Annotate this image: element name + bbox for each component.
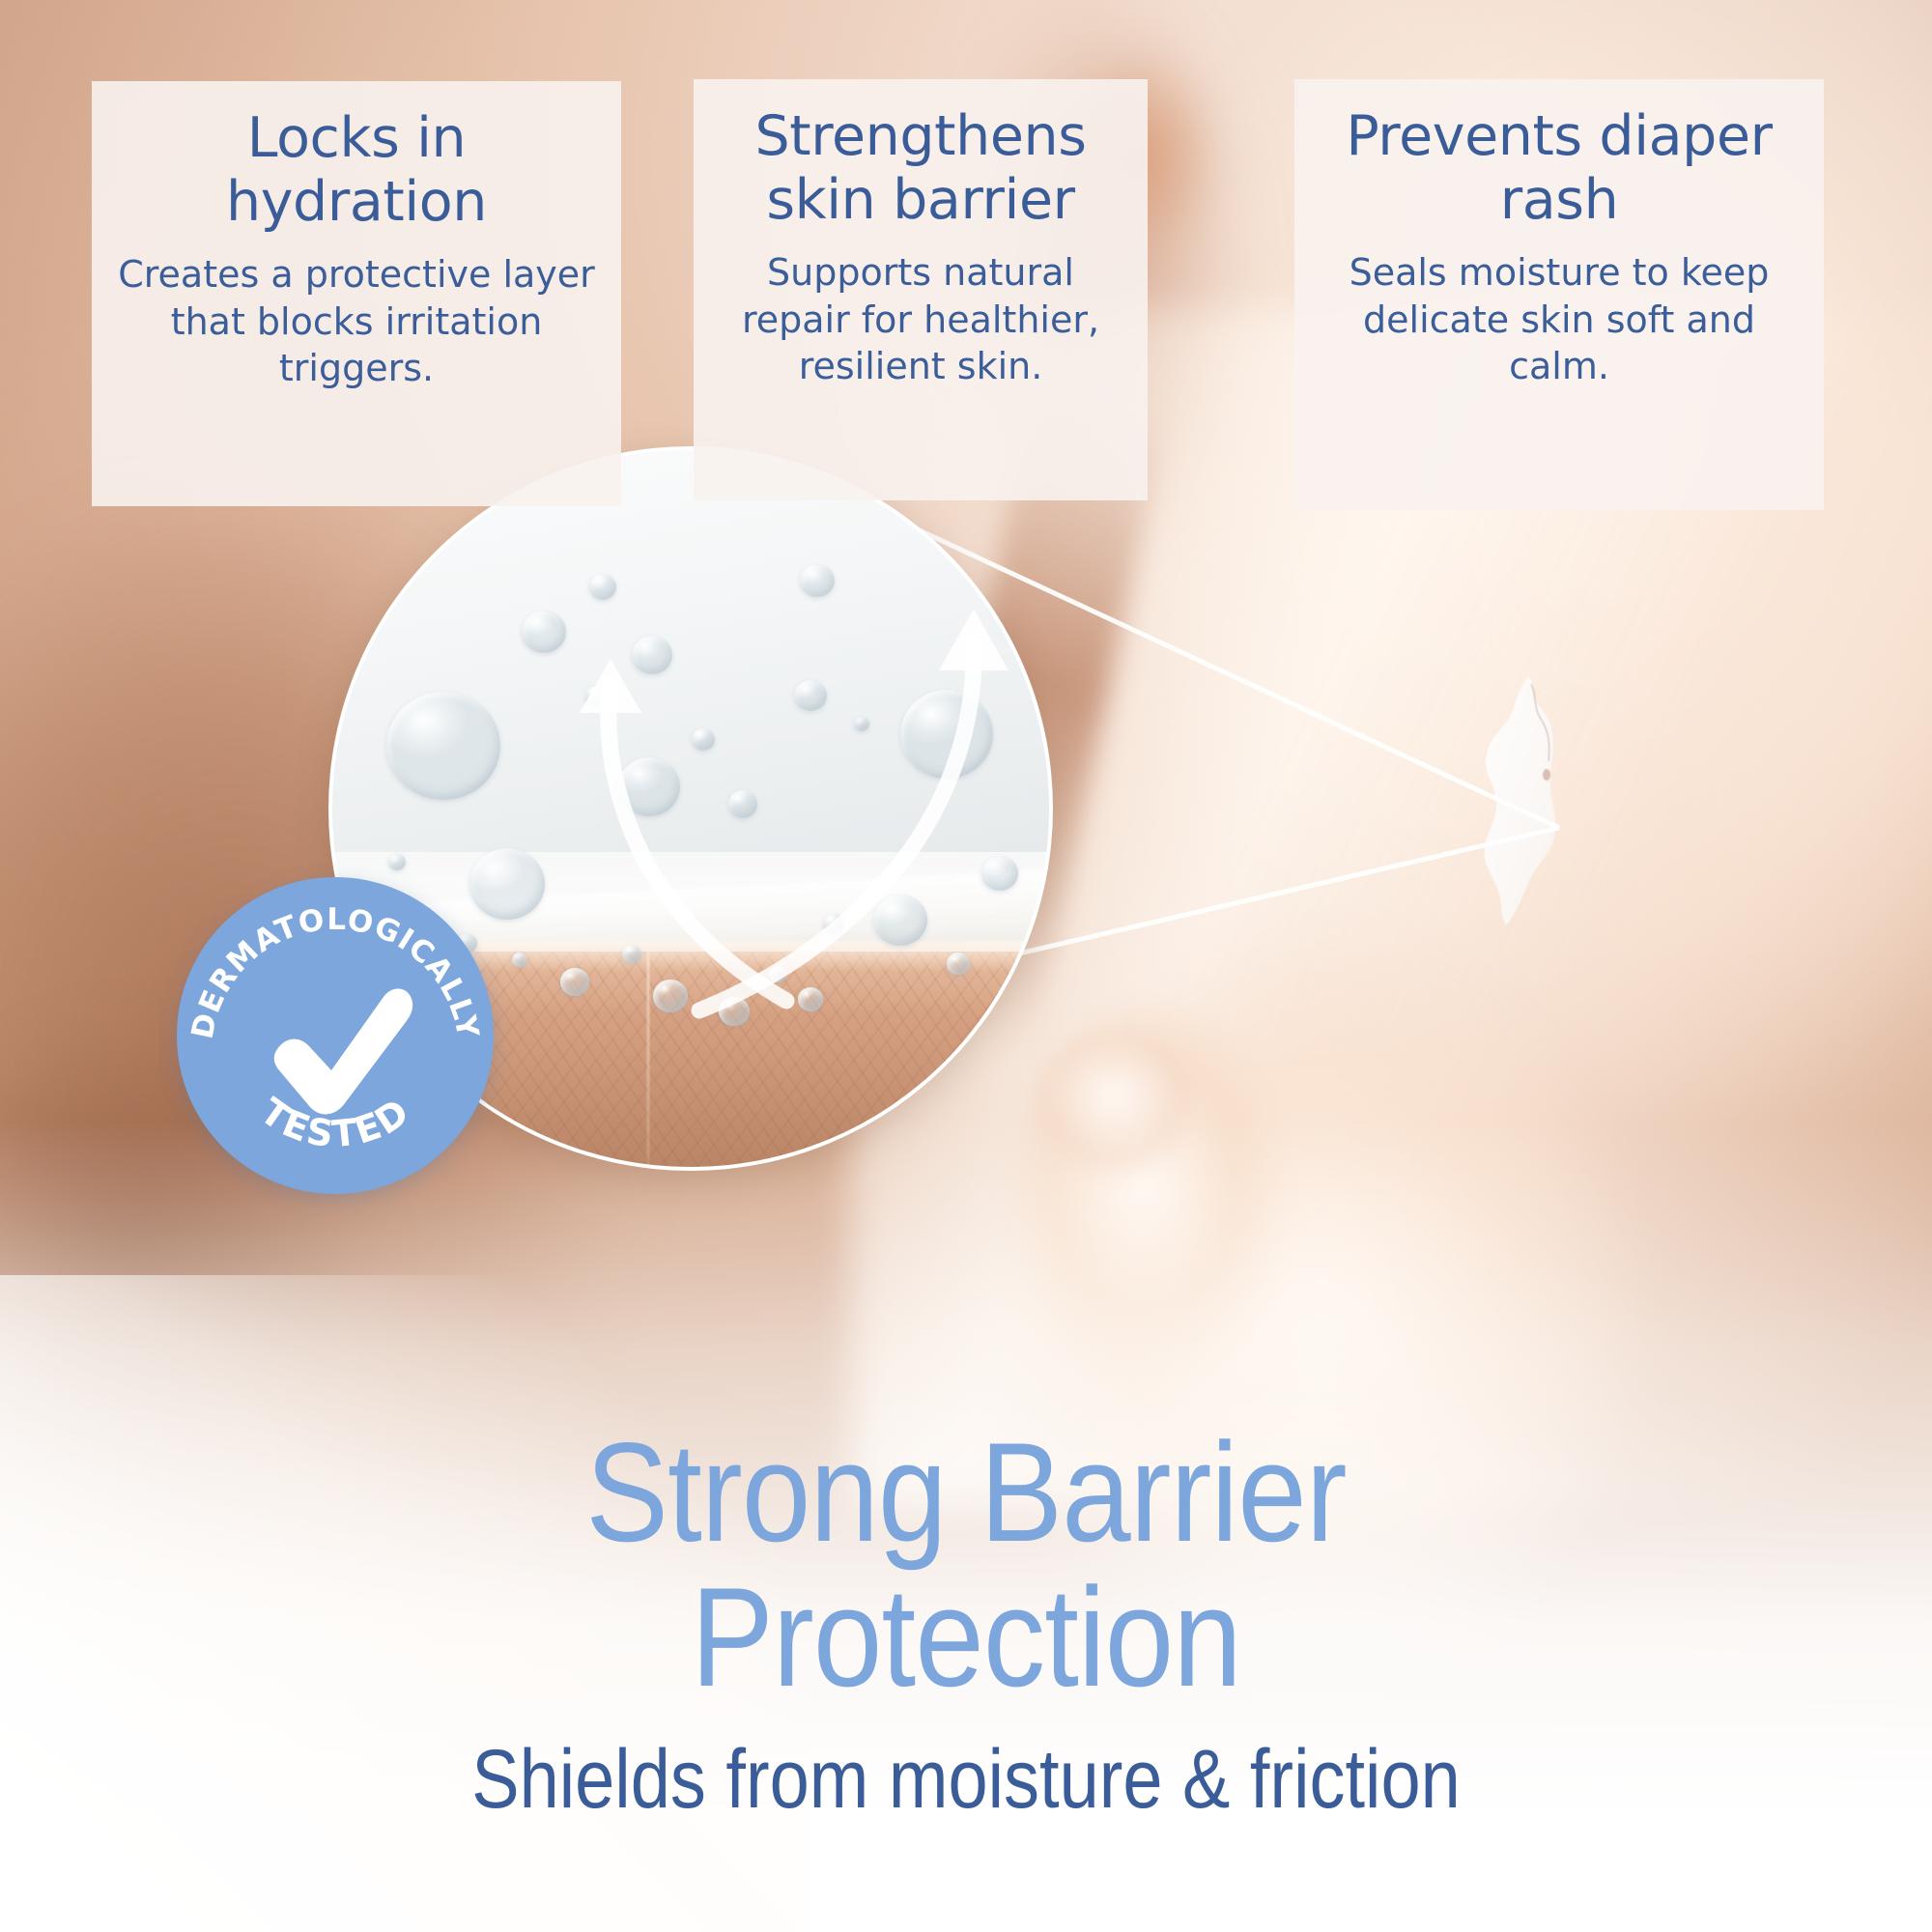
repel-arrow-right <box>641 547 1028 1030</box>
feature-card-body: Seals moisture to keep delicate skin sof… <box>1312 249 1806 390</box>
feature-card-prevents-diaper-rash: Prevents diaper rash Seals moisture to k… <box>1294 79 1824 510</box>
water-droplet <box>388 854 406 870</box>
headline-block: Strong Barrier Protection Shields from m… <box>0 1420 1932 1825</box>
feature-card-strengthens-skin-barrier: Strengthens skin barrier Supports natura… <box>694 79 1148 500</box>
feature-card-locks-in-hydration: Locks in hydration Creates a protective … <box>92 81 621 506</box>
headline-line-1: Strong Barrier <box>116 1420 1816 1565</box>
headline-line-2: Protection <box>116 1565 1816 1710</box>
feature-card-body: Supports natural repair for healthier, r… <box>711 249 1130 390</box>
cream-swatch-on-skin <box>1473 674 1594 930</box>
promo-graphic: DERMATOLOGICALLY TESTED Locks in hydrati… <box>0 0 1932 1932</box>
subheadline: Shields from moisture & friction <box>135 1734 1797 1826</box>
water-droplet <box>386 692 500 800</box>
feature-cards: Locks in hydration Creates a protective … <box>0 0 1932 580</box>
feature-card-title: Strengthens skin barrier <box>711 104 1130 232</box>
feature-card-title: Locks in hydration <box>109 106 604 234</box>
dermatologically-tested-badge: DERMATOLOGICALLY TESTED <box>177 877 494 1194</box>
feature-card-body: Creates a protective layer that blocks i… <box>109 251 604 392</box>
feature-card-title: Prevents diaper rash <box>1312 104 1806 232</box>
badge-top-label: DERMATOLOGICALLY <box>185 902 486 1042</box>
